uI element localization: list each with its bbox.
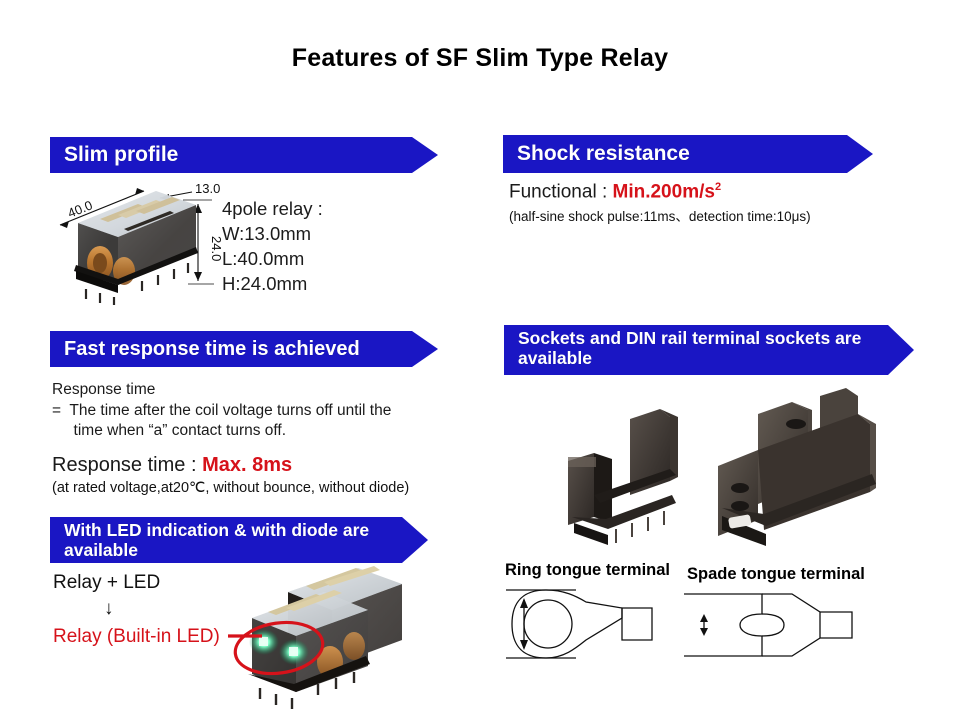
shock-functional-value: Min.200m/s [613, 181, 715, 202]
spec-length: L:40.0mm [222, 248, 304, 269]
spec-width: W:13.0mm [222, 223, 311, 244]
led-callout-line [228, 596, 358, 666]
banner-slim-profile-label: Slim profile [64, 143, 178, 167]
shock-functional-line: Functional : Min.200m/s2 [509, 181, 721, 203]
banner-shock-resistance: Shock resistance [503, 135, 873, 173]
spade-tongue-terminal-diagram [680, 582, 880, 672]
response-time-label: Response time : [52, 454, 202, 476]
pcb-socket-photo [560, 395, 700, 550]
response-time-value-line: Response time : Max. 8ms [52, 454, 292, 477]
response-time-value: Max. 8ms [202, 454, 292, 476]
spec-height: H:24.0mm [222, 273, 307, 294]
specs-title: 4pole relay : [222, 198, 323, 219]
page-title: Features of SF Slim Type Relay [0, 44, 960, 73]
din-rail-terminal-socket-photo [700, 388, 900, 553]
banner-shock-resistance-label: Shock resistance [517, 142, 690, 166]
slim-profile-specs: 4pole relay : W:13.0mm L:40.0mm H:24.0mm [222, 196, 323, 296]
banner-fast-response: Fast response time is achieved [50, 331, 438, 367]
response-time-definition: Response time = The time after the coil … [52, 380, 391, 442]
banner-sockets-label: Sockets and DIN rail terminal sockets ar… [518, 329, 914, 368]
response-time-note: (at rated voltage,at20℃, without bounce,… [52, 480, 409, 496]
shock-condition-note: (half-sine shock pulse:11ms、detection ti… [509, 205, 811, 225]
banner-fast-response-label: Fast response time is achieved [64, 338, 360, 360]
caption-ring-tongue-terminal: Ring tongue terminal [505, 561, 670, 580]
banner-led-indication: With LED indication & with diode are ava… [50, 517, 428, 563]
banner-slim-profile: Slim profile [50, 137, 438, 173]
ring-tongue-terminal-diagram [502, 582, 682, 672]
shock-functional-label: Functional : [509, 181, 613, 202]
led-line-built-in: Relay (Built-in LED) [53, 626, 220, 648]
slide-root: Features of SF Slim Type Relay Slim prof… [0, 0, 960, 720]
led-line-relay-plus-led: Relay + LED [53, 572, 160, 594]
down-arrow-icon: ↓ [104, 598, 114, 620]
banner-led-indication-label: With LED indication & with diode are ava… [64, 521, 428, 560]
banner-sockets: Sockets and DIN rail terminal sockets ar… [504, 325, 914, 375]
slim-relay-photo [60, 185, 210, 305]
shock-functional-exponent: 2 [715, 181, 721, 193]
